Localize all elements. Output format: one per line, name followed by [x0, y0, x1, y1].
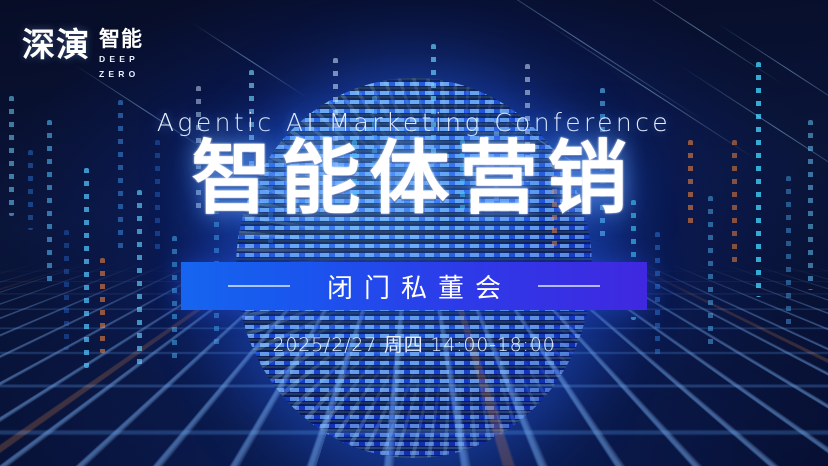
- event-datetime: 2025/2/27 周四 14:00-18:00: [0, 330, 828, 357]
- light-streak: [454, 0, 706, 123]
- light-streak: [714, 21, 828, 120]
- subtitle-banner: 闭门私董会: [181, 262, 647, 310]
- logo-secondary: 智能 DEEP ZERO: [99, 28, 143, 81]
- logo-wordmark-en-line2: ZERO: [99, 68, 143, 80]
- banner-dash-left: [228, 285, 290, 287]
- logo-wordmark-sub-cn: 智能: [99, 29, 143, 50]
- subtitle-text: 闭门私董会: [316, 268, 512, 305]
- banner-dash-right: [538, 285, 600, 287]
- poster-canvas: 深演 智能 DEEP ZERO Agentic AI Marketing Con…: [0, 0, 828, 466]
- brand-logo[interactable]: 深演 智能 DEEP ZERO: [22, 28, 143, 81]
- light-streak: [191, 22, 309, 99]
- light-streak: [616, 0, 784, 85]
- logo-wordmark-en-line1: DEEP: [99, 53, 143, 65]
- page-title: 智能体营销: [0, 139, 828, 219]
- logo-wordmark-cn: 深演: [22, 28, 90, 61]
